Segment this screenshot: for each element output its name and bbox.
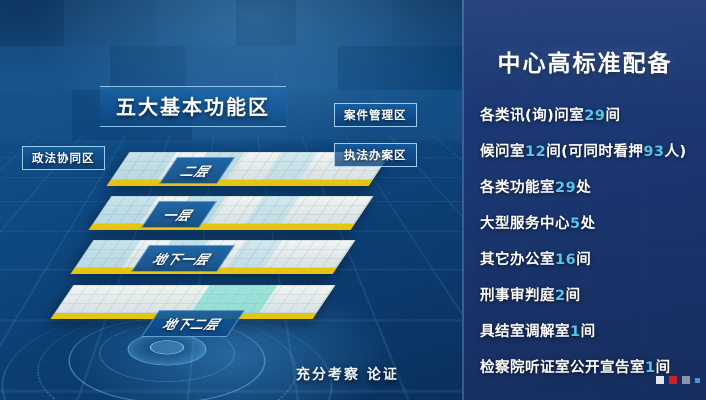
spec-text: 人) xyxy=(665,144,687,160)
spec-text: 具结室调解室 xyxy=(480,324,570,340)
spec-number: 2 xyxy=(555,288,566,304)
floor-slab[interactable] xyxy=(89,196,374,230)
spec-text: 间(可同时看押 xyxy=(546,144,643,160)
spec-row: 大型服务中心5处 xyxy=(480,212,696,233)
spec-text: 间 xyxy=(576,252,591,268)
spec-row: 候问室12间(可同时看押93人) xyxy=(480,140,696,161)
slide-indicator-dots[interactable] xyxy=(656,376,700,384)
floor-plan-texture xyxy=(93,196,374,224)
floor-label-b1: 地下一层 xyxy=(131,245,235,272)
spec-text: 候问室 xyxy=(480,144,525,160)
spec-text: 各类讯(询)问室 xyxy=(480,108,584,124)
spec-text: 处 xyxy=(581,216,596,232)
scene-3d-building: 二层 一层 地下一层 地下二层 五大基本功能区 政法协同区 案件管理区 执法办案… xyxy=(0,0,462,400)
spec-text: 间 xyxy=(656,360,671,376)
slab-edge xyxy=(107,180,373,186)
zone-tag-case-management[interactable]: 案件管理区 xyxy=(334,103,417,127)
spec-text: 刑事审判庭 xyxy=(480,288,555,304)
info-panel: 中心高标准配备 各类讯(询)问室29间候问室12间(可同时看押93人)各类功能室… xyxy=(462,0,706,400)
spec-row: 各类讯(询)问室29间 xyxy=(480,104,696,125)
spec-number: 5 xyxy=(570,216,581,232)
spec-number: 12 xyxy=(525,144,546,160)
floor-plan-texture xyxy=(55,285,336,313)
spec-text: 间 xyxy=(581,324,596,340)
scene-title: 五大基本功能区 xyxy=(100,86,286,127)
indicator-dot[interactable] xyxy=(669,376,677,384)
indicator-dot[interactable] xyxy=(682,376,690,384)
spec-row: 具结室调解室1间 xyxy=(480,320,696,341)
indicator-dot[interactable] xyxy=(656,376,664,384)
spec-number: 1 xyxy=(645,360,656,376)
spec-row: 刑事审判庭2间 xyxy=(480,284,696,305)
spec-text: 大型服务中心 xyxy=(480,216,570,232)
spec-text: 处 xyxy=(576,180,591,196)
spec-row: 检察院听证室公开宣告室1间 xyxy=(480,356,696,377)
spec-text: 各类功能室 xyxy=(480,180,555,196)
spec-number: 29 xyxy=(555,180,576,196)
spec-row: 各类功能室29处 xyxy=(480,176,696,197)
slide-canvas: 二层 一层 地下一层 地下二层 五大基本功能区 政法协同区 案件管理区 执法办案… xyxy=(0,0,706,400)
spec-number: 1 xyxy=(570,324,581,340)
slab-edge xyxy=(89,224,355,230)
zone-tag-coop[interactable]: 政法协同区 xyxy=(22,146,105,170)
scene-caption: 充分考察 论证 xyxy=(296,364,399,384)
spec-number: 93 xyxy=(643,144,664,160)
floor-stack: 二层 一层 地下一层 地下二层 xyxy=(0,0,462,400)
spec-text: 其它办公室 xyxy=(480,252,555,268)
spec-number: 29 xyxy=(584,108,605,124)
indicator-dot[interactable] xyxy=(695,378,700,383)
spec-text: 间 xyxy=(566,288,581,304)
spec-text: 检察院听证室公开宣告室 xyxy=(480,360,645,376)
spec-list: 各类讯(询)问室29间候问室12间(可同时看押93人)各类功能室29处大型服务中… xyxy=(480,104,696,392)
zone-tag-law-enforcement[interactable]: 执法办案区 xyxy=(334,143,417,167)
spec-number: 16 xyxy=(555,252,576,268)
floor-label-b2: 地下二层 xyxy=(141,310,245,337)
panel-title: 中心高标准配备 xyxy=(464,44,706,78)
spec-row: 其它办公室16间 xyxy=(480,248,696,269)
spec-text: 间 xyxy=(605,108,620,124)
